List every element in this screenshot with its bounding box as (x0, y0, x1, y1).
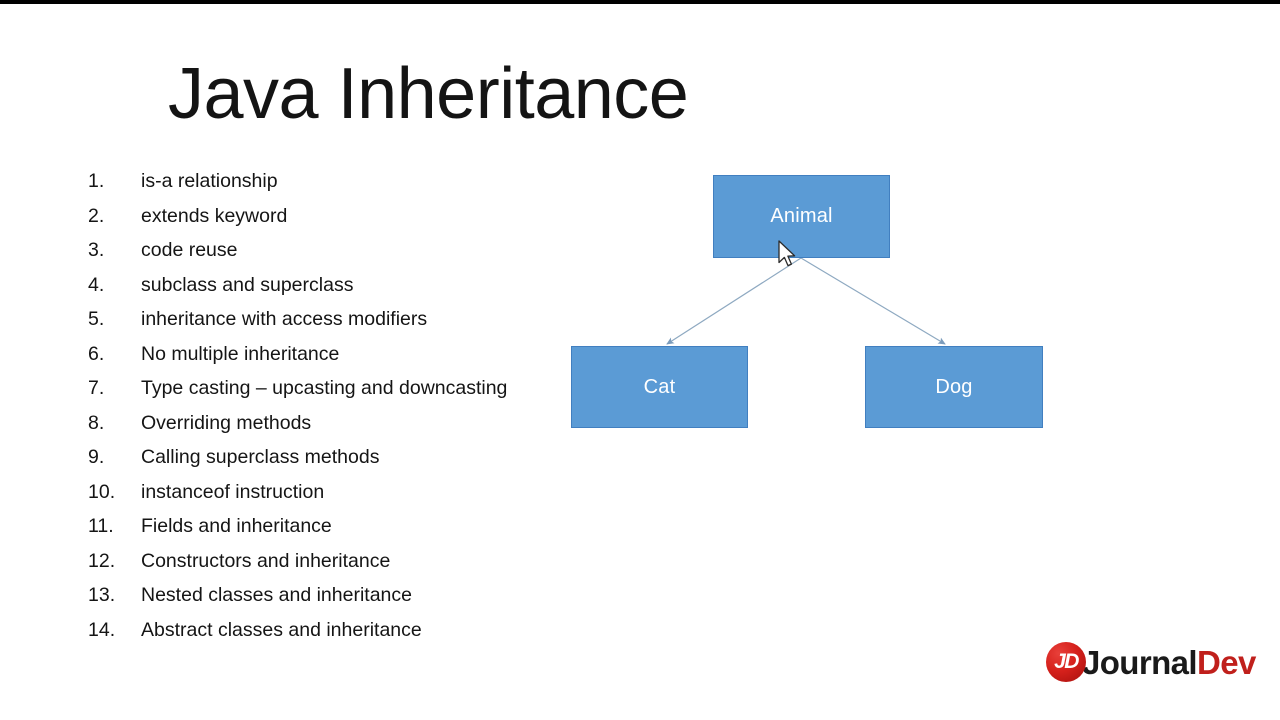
list-item-label: code reuse (141, 239, 237, 262)
diagram-node-label: Dog (935, 376, 972, 399)
diagram-node-label: Cat (644, 376, 676, 399)
list-item: 7. Type casting – upcasting and downcast… (88, 377, 608, 412)
logo-circle-icon: JD (1046, 642, 1086, 682)
list-item: 10. instanceof instruction (88, 481, 608, 516)
list-item-label: extends keyword (141, 205, 287, 228)
list-item: 3. code reuse (88, 239, 608, 274)
list-item-label: is-a relationship (141, 170, 278, 193)
list-item-number: 6. (88, 343, 141, 366)
list-item-number: 1. (88, 170, 141, 193)
journaldev-logo: JD JournalDev (1046, 640, 1256, 684)
list-item: 12. Constructors and inheritance (88, 550, 608, 585)
list-item-number: 8. (88, 412, 141, 435)
list-item-number: 3. (88, 239, 141, 262)
list-item-label: Nested classes and inheritance (141, 584, 412, 607)
logo-mark-text: JD (1054, 651, 1078, 673)
list-item: 4. subclass and superclass (88, 274, 608, 309)
list-item-label: Fields and inheritance (141, 515, 332, 538)
list-item-label: Overriding methods (141, 412, 311, 435)
list-item: 13. Nested classes and inheritance (88, 584, 608, 619)
list-item-label: Constructors and inheritance (141, 550, 390, 573)
list-item: 9. Calling superclass methods (88, 446, 608, 481)
edge-animal-cat (667, 258, 801, 344)
list-item-label: inheritance with access modifiers (141, 308, 427, 331)
list-item-label: Calling superclass methods (141, 446, 379, 469)
list-item-number: 2. (88, 205, 141, 228)
list-item-number: 5. (88, 308, 141, 331)
logo-word-primary: Journal (1082, 644, 1197, 681)
list-item-number: 13. (88, 584, 141, 607)
list-item-number: 9. (88, 446, 141, 469)
logo-wordmark: JournalDev (1082, 646, 1256, 679)
list-item-number: 11. (88, 515, 141, 538)
list-item: 8. Overriding methods (88, 412, 608, 447)
mouse-cursor-icon (775, 238, 797, 270)
slide-canvas: Java Inheritance 1. is-a relationship 2.… (0, 0, 1280, 720)
list-item: 2. extends keyword (88, 205, 608, 240)
list-item-label: No multiple inheritance (141, 343, 339, 366)
diagram-node-label: Animal (770, 205, 832, 228)
page-title: Java Inheritance (168, 58, 688, 130)
list-item-label: Abstract classes and inheritance (141, 619, 422, 642)
logo-word-accent: Dev (1197, 644, 1256, 681)
edge-animal-dog (801, 258, 945, 344)
list-item-number: 4. (88, 274, 141, 297)
list-item: 1. is-a relationship (88, 170, 608, 205)
list-item-label: instanceof instruction (141, 481, 324, 504)
list-item-number: 7. (88, 377, 141, 400)
diagram-node-dog[interactable]: Dog (865, 346, 1043, 428)
list-item-number: 10. (88, 481, 141, 504)
diagram-node-animal[interactable]: Animal (713, 175, 890, 258)
list-item-number: 14. (88, 619, 141, 642)
topic-list: 1. is-a relationship 2. extends keyword … (88, 170, 608, 653)
letterbox-bar (0, 0, 1280, 4)
list-item-number: 12. (88, 550, 141, 573)
list-item-label: Type casting – upcasting and downcasting (141, 377, 507, 400)
list-item: 5. inheritance with access modifiers (88, 308, 608, 343)
list-item: 14. Abstract classes and inheritance (88, 619, 608, 654)
list-item: 6. No multiple inheritance (88, 343, 608, 378)
list-item: 11. Fields and inheritance (88, 515, 608, 550)
list-item-label: subclass and superclass (141, 274, 353, 297)
